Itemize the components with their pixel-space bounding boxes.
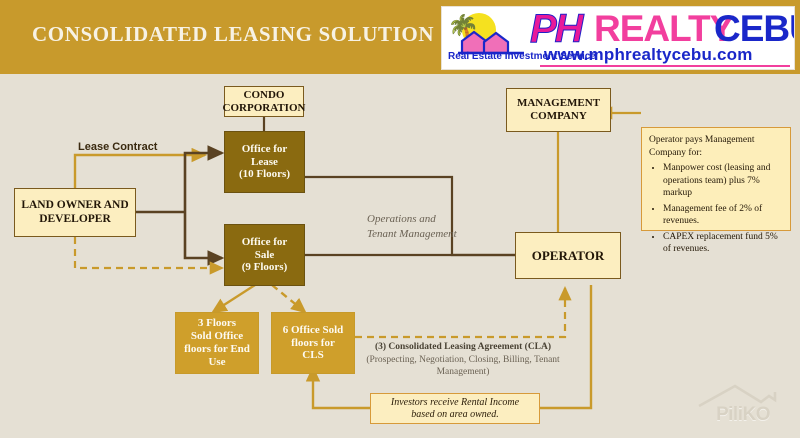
management-company-line2: COMPANY: [530, 110, 587, 123]
watermark-text: PiliKO: [695, 404, 791, 426]
watermark: PiliKO: [695, 382, 791, 432]
office-sale-line3: (9 Floors): [242, 261, 288, 274]
three-floors-line1: 3 Floors: [198, 317, 236, 330]
cla-detail: (Prospecting, Negotiation, Closing, Bill…: [363, 354, 563, 379]
office-lease-line2: Lease: [251, 156, 278, 169]
investors-line2: based on area owned.: [411, 409, 498, 421]
label-operations-tenant-management: Operations and Tenant Management: [367, 212, 457, 242]
node-operator[interactable]: OPERATOR: [515, 232, 621, 279]
wire-investors-to-6floors: [313, 368, 370, 408]
node-six-floors-cls[interactable]: 6 Office Sold floors for CLS: [271, 312, 355, 374]
operations-line1: Operations and: [367, 212, 457, 227]
note-bullet-2: Management fee of 2% of revenues.: [663, 203, 783, 228]
diagram-page: CONSOLIDATED LEASING SOLUTION 🌴 PH REALT…: [0, 0, 800, 438]
three-floors-line4: Use: [208, 356, 225, 369]
label-lease-contract: Lease Contract: [78, 141, 157, 153]
wire-sale-to-6floors: [272, 285, 305, 312]
condo-corporation-line1: CONDO: [244, 89, 285, 102]
wire-landowner-dashed: [75, 237, 222, 268]
land-owner-line2: DEVELOPER: [39, 213, 111, 227]
office-sale-line2: Sale: [255, 249, 275, 262]
management-company-line1: MANAGEMENT: [517, 97, 600, 110]
node-condo-corporation[interactable]: CONDO CORPORATION: [224, 86, 304, 117]
node-management-company[interactable]: MANAGEMENT COMPANY: [506, 88, 611, 132]
six-floors-line2: floors for: [291, 337, 335, 350]
three-floors-line2: Sold Office: [191, 330, 243, 343]
node-office-for-sale[interactable]: Office for Sale (9 Floors): [224, 224, 305, 286]
six-floors-line3: CLS: [302, 349, 323, 362]
office-lease-line1: Office for: [242, 143, 288, 156]
node-land-owner-developer[interactable]: LAND OWNER AND DEVELOPER: [14, 188, 136, 237]
label-consolidated-leasing-agreement: (3) Consolidated Leasing Agreement (CLA)…: [363, 341, 563, 379]
wire-sale-to-3floors: [213, 285, 255, 312]
office-sale-line1: Office for: [242, 236, 288, 249]
office-lease-line3: (10 Floors): [239, 168, 290, 181]
wire-to-office-lease: [185, 153, 222, 212]
note-bullet-3: CAPEX replacement fund 5% of revenues.: [663, 231, 783, 256]
note-bullet-list: Manpower cost (leasing and operations te…: [649, 162, 783, 256]
wire-to-office-sale: [185, 212, 222, 258]
operations-line2: Tenant Management: [367, 227, 457, 242]
note-bullet-1: Manpower cost (leasing and operations te…: [663, 162, 783, 200]
cla-title: (3) Consolidated Leasing Agreement (CLA): [375, 342, 551, 352]
operator-label: OPERATOR: [532, 248, 604, 263]
three-floors-line3: floors for End: [184, 343, 250, 356]
wire-cla-dashed: [355, 288, 565, 337]
land-owner-line1: LAND OWNER AND: [21, 199, 128, 213]
note-intro: Operator pays Management Company for:: [649, 134, 783, 159]
investors-line1: Investors receive Rental Income: [391, 397, 519, 409]
node-office-for-lease[interactable]: Office for Lease (10 Floors): [224, 131, 305, 193]
node-three-floors-end-use[interactable]: 3 Floors Sold Office floors for End Use: [175, 312, 259, 374]
six-floors-line1: 6 Office Sold: [283, 324, 344, 337]
condo-corporation-line2: CORPORATION: [223, 102, 306, 115]
node-investors-rental-income[interactable]: Investors receive Rental Income based on…: [370, 393, 540, 424]
note-operator-payments[interactable]: Operator pays Management Company for: Ma…: [641, 127, 791, 231]
